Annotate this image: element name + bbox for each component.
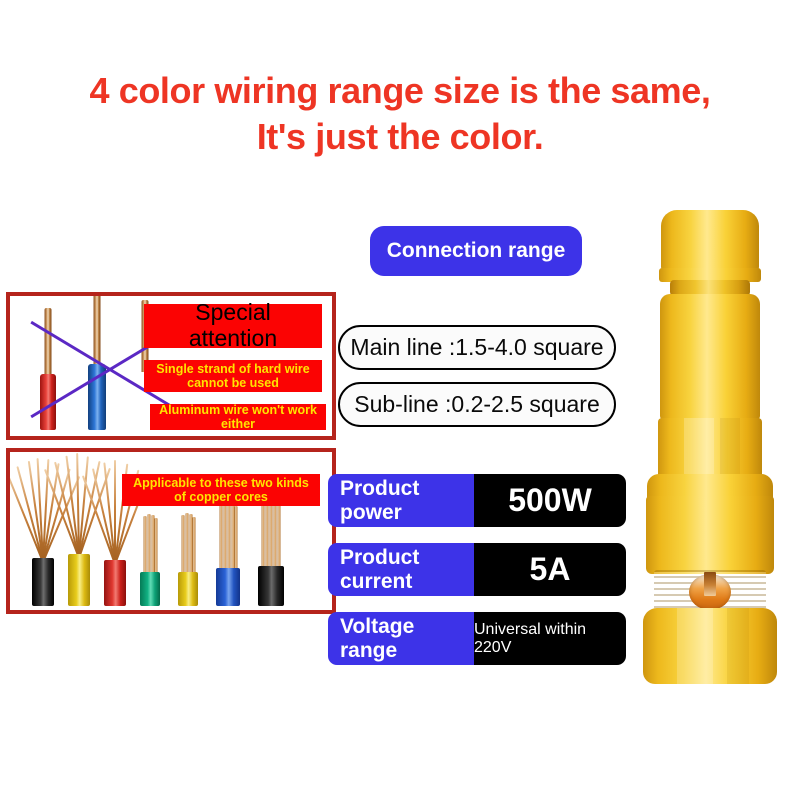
spec-row-voltage-range: Voltage range Universal within 220V [328,612,626,665]
copper-strand-bundle [262,496,281,570]
copper-strand-fan [42,462,44,562]
copper-strand-bundle [220,502,237,572]
copper-strand-fan [114,464,116,564]
yellow-coarse-strand-wire [178,512,198,606]
spec-key-product-current: Product current [328,543,474,596]
applicable-copper-cores-panel: Applicable to these two kinds of copper … [6,448,336,614]
green-coarse-strand-wire [140,512,160,606]
page-title-line-2: It's just the color. [0,114,800,160]
product-image [620,196,800,698]
spec-row-product-power: Product power 500W [328,474,626,527]
spec-value-product-current: 5A [474,543,626,596]
sub-line-spec-pill: Sub-line :0.2-2.5 square [338,382,616,427]
yellow-fine-strand-wire [68,456,90,606]
connector-ribbed-collar [646,496,774,574]
copper-strand-bundle [144,514,157,576]
main-line-spec-pill: Main line :1.5-4.0 square [338,325,616,370]
applicable-copper-cores-label: Applicable to these two kinds of copper … [122,474,320,506]
page-title: 4 color wiring range size is the same, I… [0,68,800,160]
spec-key-product-power: Product power [328,474,474,527]
product-infographic: 4 color wiring range size is the same, I… [0,0,800,800]
page-title-line-1: 4 color wiring range size is the same, [0,68,800,114]
single-strand-warning-label: Single strand of hard wire cannot be use… [144,360,322,392]
connector-top-cap [661,210,759,272]
wire-jacket [104,560,126,606]
spec-value-product-power: 500W [474,474,626,527]
copper-core [94,296,101,368]
wire-jacket [216,568,240,606]
wire-jacket [258,566,284,606]
connector-main-barrel [660,294,760,420]
special-attention-panel: Special attention Single strand of hard … [6,292,336,440]
wire-jacket [68,554,90,606]
connection-range-badge: Connection range [370,226,582,276]
wire-jacket [140,572,160,606]
spec-value-voltage-range: Universal within 220V [474,612,626,665]
blue-coarse-strand-wire [216,500,240,606]
aluminum-wire-warning-label: Aluminum wire won't work either [150,404,326,430]
black-coarse-strand-wire [258,494,284,606]
black-fine-strand-wire [32,456,54,606]
connector-base-nut [643,608,777,684]
wire-jacket [178,572,198,606]
copper-wire-tip-icon [704,572,716,596]
wire-jacket [32,558,54,606]
special-attention-label: Special attention [144,304,322,348]
copper-strand-fan [78,458,80,558]
spec-key-voltage-range: Voltage range [328,612,474,665]
copper-strand-bundle [182,514,195,576]
copper-core [45,308,52,378]
spec-row-product-current: Product current 5A [328,543,626,596]
connector-hex-nut [658,418,762,480]
